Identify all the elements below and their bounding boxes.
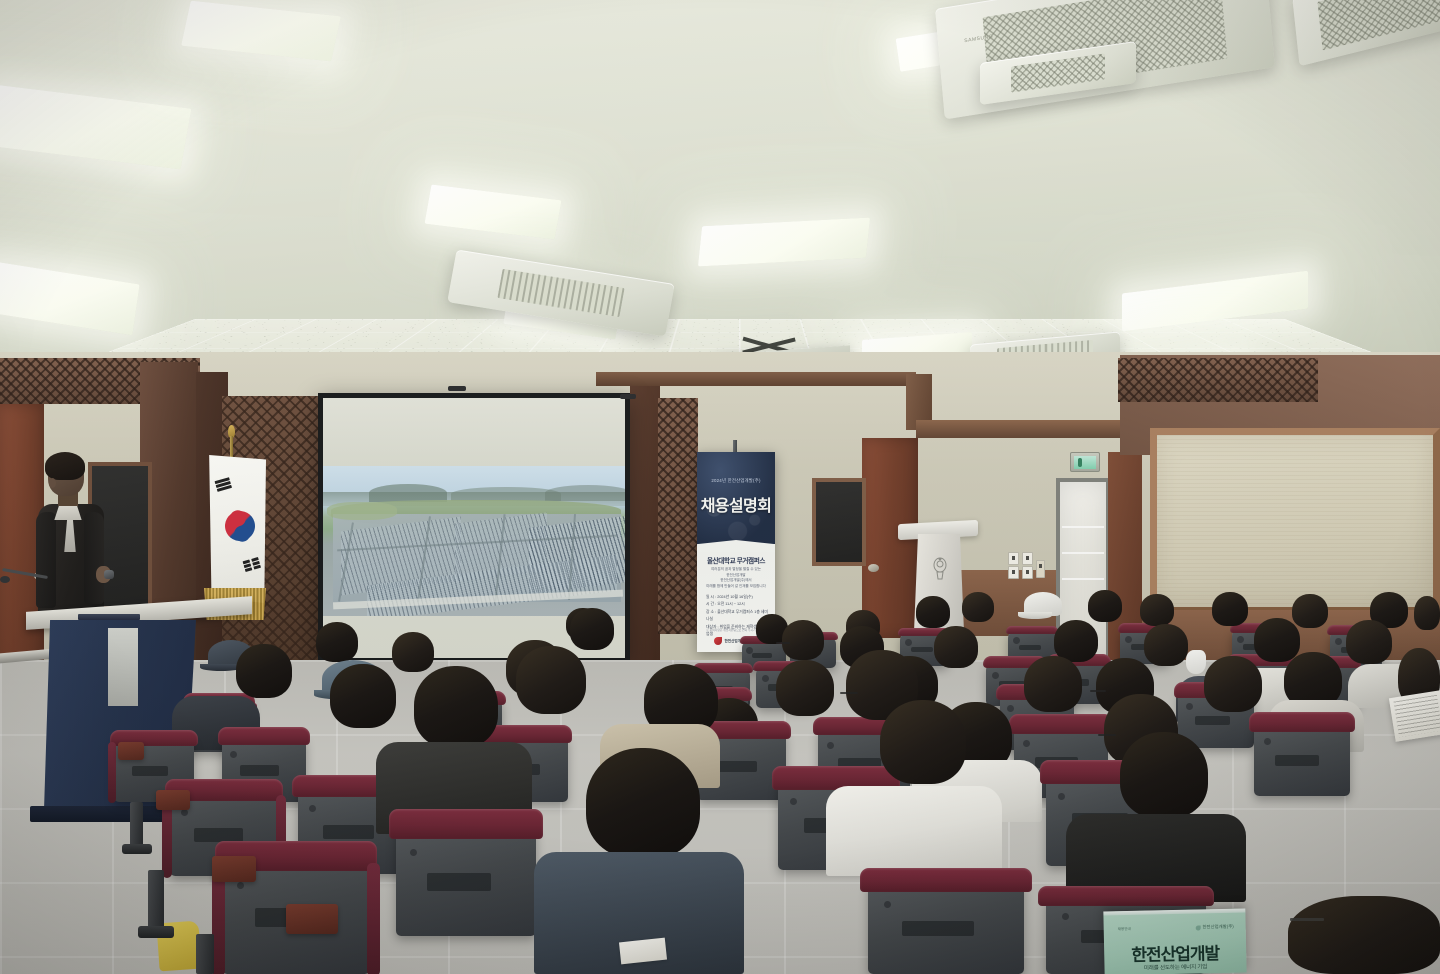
audience-head (1292, 594, 1328, 628)
seat-back-shell (396, 824, 536, 936)
wall-trim (596, 372, 916, 386)
seat-headrest (1038, 886, 1214, 906)
wall-outlet[interactable] (1022, 552, 1033, 565)
banner-info-line: 일 시 : 2024년 10월 16일(수) (706, 594, 769, 601)
company-logo-icon (1196, 925, 1201, 930)
seat[interactable] (396, 824, 536, 936)
banner-year-label: 2024년 한전산업개발(주) (697, 478, 775, 484)
seat-pedestal-foot (138, 926, 174, 938)
seat[interactable] (1254, 722, 1350, 796)
glasses-icon (1090, 690, 1106, 692)
taegeuk-symbol (221, 507, 258, 544)
wood-pillar (630, 378, 660, 662)
ceiling-light-icon (181, 1, 341, 62)
seat-headrest (1006, 626, 1059, 635)
wall-trim (916, 420, 1144, 438)
seat-pedestal (148, 870, 164, 932)
audience-head (934, 626, 978, 668)
wall-lattice-panel (1118, 358, 1318, 402)
audience-head (1144, 624, 1188, 666)
seat-back-shell (1254, 722, 1350, 796)
booklet-subtitle: 미래를 선도하는 에너지 기업 (1104, 962, 1246, 973)
audience-head (1120, 732, 1208, 818)
wall-outlet[interactable] (1008, 552, 1019, 565)
exit-sign-icon (1070, 452, 1100, 472)
ceiling-light-icon (698, 217, 870, 266)
wall-lattice-panel (658, 398, 698, 634)
ceiling-light-icon (0, 85, 191, 170)
podium-front-panel (108, 628, 138, 706)
seat-armrest (118, 742, 144, 760)
audience-head (330, 664, 396, 728)
ac-grille (1317, 0, 1440, 51)
booklet-logo: 한전산업개발(주) (1196, 924, 1234, 931)
university-emblem-icon (930, 556, 950, 582)
seat-back-shell (868, 880, 1024, 974)
face-mask (1186, 650, 1206, 674)
glasses-icon (840, 692, 858, 694)
audience-head (916, 596, 950, 628)
seat-headrest (860, 868, 1032, 892)
banner-info-line: 시 간 : 오전 11시 ~ 12시 (706, 601, 769, 608)
handout-newspaper (1389, 690, 1440, 742)
audience-head (1414, 596, 1440, 630)
audience-head (1088, 590, 1122, 622)
ceiling-light-icon (0, 261, 140, 336)
trigram-gon (243, 557, 262, 573)
audience-head (1024, 656, 1082, 712)
recruitment-booklet[interactable]: 채용안내 한전산업개발(주) 한전산업개발 미래를 선도하는 에너지 기업 (1103, 909, 1246, 974)
exit-sign-pictogram (1074, 456, 1096, 469)
audience-head (1254, 618, 1300, 662)
audience-head (236, 644, 292, 698)
presenter-arm-right (84, 512, 104, 604)
presenter-hair (45, 452, 85, 480)
presentation-clicker[interactable] (104, 570, 114, 579)
glasses-icon (776, 642, 790, 644)
door-knob-icon[interactable] (868, 564, 879, 572)
audience-head (1054, 620, 1098, 662)
glasses-icon (1098, 734, 1116, 736)
audience-head (776, 660, 834, 716)
ac-grille (1011, 54, 1105, 92)
screen-mount-bracket (620, 394, 636, 399)
ceiling-light-icon (424, 184, 561, 239)
slide-grass-strip (327, 502, 397, 520)
seat-pedestal (130, 802, 143, 848)
diffuser-slats (497, 269, 624, 318)
acoustic-wall-panel (1150, 428, 1440, 614)
banner-body-line: 미래를 함께 만들어 갈 인재를 모집합니다 (703, 584, 769, 590)
seat-side (367, 863, 380, 974)
audience-head (516, 646, 586, 714)
banner-body-line: 여러분의 꿈과 열정을 펼칠 수 있는 (703, 567, 769, 573)
presenter-ear (49, 478, 56, 488)
cap-brim (1018, 612, 1052, 619)
audience-head (570, 608, 614, 650)
glasses-icon (1290, 918, 1324, 921)
air-conditioner-icon (1292, 0, 1440, 66)
seat-pedestal (196, 934, 214, 974)
projected-slide (323, 466, 625, 616)
screen-mount-bracket (448, 386, 466, 391)
screen-blank-area (323, 398, 625, 466)
banner-title: 채용설명회 (697, 492, 775, 516)
wall-panel-dark (812, 478, 866, 566)
seat-headrest (218, 727, 310, 744)
audience-head (880, 700, 966, 784)
seat-side (108, 742, 115, 803)
seat-armrest (156, 790, 190, 810)
slide-distant-land (545, 485, 625, 501)
seat-armrest (286, 904, 338, 934)
seat[interactable] (868, 880, 1024, 974)
korean-flag (208, 455, 266, 603)
wall-outlet[interactable] (1008, 566, 1019, 579)
microphone-icon (0, 576, 10, 583)
podium-control-panel[interactable] (78, 614, 140, 620)
audience-head (414, 666, 498, 748)
audience-head (1204, 656, 1262, 712)
glass-reflection (1062, 526, 1104, 528)
wall-junction-box (1036, 560, 1045, 578)
audience-head (1212, 592, 1248, 626)
audience-head (782, 620, 824, 660)
audience-head (1140, 594, 1174, 626)
seat-headrest (389, 809, 543, 838)
seat-headrest (1009, 714, 1112, 733)
audience-head (962, 592, 994, 622)
audience-head (316, 622, 358, 662)
presenter-arm-left (36, 512, 56, 608)
seat-headrest (1249, 712, 1355, 731)
audience-head-foreground (586, 748, 700, 858)
glass-reflection (1062, 552, 1104, 554)
banner-subtitle: 울산대학교 무거캠퍼스 (697, 555, 775, 565)
auditorium-photo: SAMSUNG (0, 0, 1440, 974)
audience-head (392, 632, 434, 672)
banner-body-text: 여러분의 꿈과 열정을 펼칠 수 있는 한전산업개발 한전산업개발(주)에서 미… (703, 567, 769, 589)
company-logo-icon (714, 637, 722, 645)
audience-head-foreground (1288, 896, 1440, 974)
audience-head (1346, 620, 1392, 664)
ceiling: SAMSUNG (0, 0, 1440, 400)
trigram-geon (215, 477, 233, 493)
seat-armrest (212, 856, 256, 882)
wall-outlet[interactable] (1022, 566, 1033, 579)
audience-shoulders (826, 786, 1002, 876)
seat-pedestal-foot (122, 844, 152, 854)
booklet-kicker: 채용안내 (1118, 927, 1131, 932)
booklet-logo-text: 한전산업개발(주) (1202, 924, 1233, 931)
glass-reflection (1062, 578, 1104, 580)
